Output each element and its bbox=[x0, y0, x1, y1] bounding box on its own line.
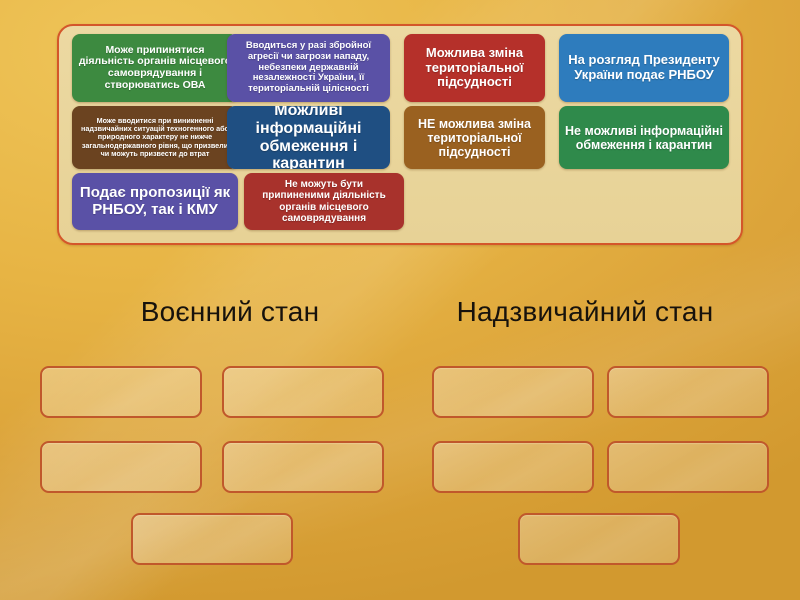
word-tile[interactable]: Вводиться у разі збройної агресії чи заг… bbox=[227, 34, 390, 102]
drop-zone[interactable] bbox=[222, 366, 384, 418]
word-tile[interactable]: Не можливі інформаційні обмеження і кара… bbox=[559, 106, 729, 169]
drop-zone[interactable] bbox=[607, 441, 769, 493]
word-tile[interactable]: НЕ можлива зміна територіальної підсудно… bbox=[404, 106, 545, 169]
word-tile[interactable]: Може вводитися при виникненні надзвичайн… bbox=[72, 106, 238, 169]
category-heading-right: Надзвичайний стан bbox=[400, 296, 770, 328]
category-heading-left: Воєнний стан bbox=[60, 296, 400, 328]
drop-zone[interactable] bbox=[518, 513, 680, 565]
word-tile[interactable]: Можливі інформаційні обмеження і каранти… bbox=[227, 106, 390, 169]
drop-zone[interactable] bbox=[607, 366, 769, 418]
word-bank-panel: Може припинятися діяльність органів місц… bbox=[57, 24, 743, 245]
word-bank-tile-list: Може припинятися діяльність органів місц… bbox=[59, 26, 741, 243]
drop-zone[interactable] bbox=[222, 441, 384, 493]
drop-zone[interactable] bbox=[432, 366, 594, 418]
word-tile[interactable]: Можлива зміна територіальної підсудності bbox=[404, 34, 545, 102]
drop-zone[interactable] bbox=[432, 441, 594, 493]
drop-zone[interactable] bbox=[40, 441, 202, 493]
drop-zone[interactable] bbox=[131, 513, 293, 565]
word-tile[interactable]: Не можуть бути припиненими діяльність ор… bbox=[244, 173, 404, 230]
word-tile[interactable]: На розгляд Президенту України подає РНБО… bbox=[559, 34, 729, 102]
word-tile[interactable]: Може припинятися діяльність органів місц… bbox=[72, 34, 238, 102]
word-tile[interactable]: Подає пропозиції як РНБОУ, так і КМУ bbox=[72, 173, 238, 230]
drop-zone[interactable] bbox=[40, 366, 202, 418]
